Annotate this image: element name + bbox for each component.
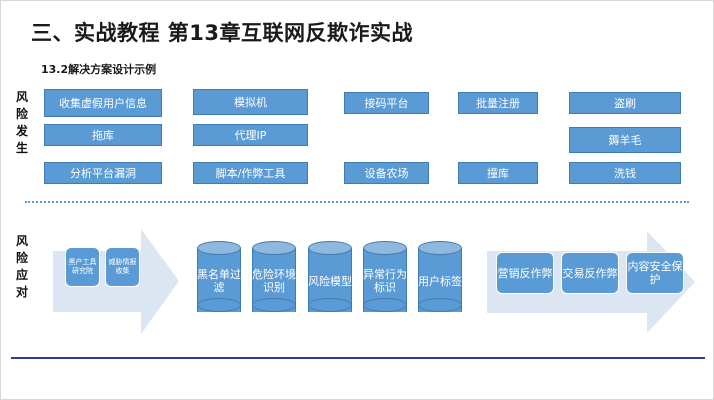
- label-char: 对: [11, 284, 33, 301]
- risk-box[interactable]: 批量注册: [458, 92, 538, 114]
- data-store-cylinder[interactable]: 黑名单过滤: [197, 241, 241, 319]
- risk-box[interactable]: 薅羊毛: [569, 127, 681, 153]
- cylinder-label: 用户标签: [418, 253, 462, 309]
- label-char: 风: [11, 233, 33, 250]
- risk-box[interactable]: 脚本/作弊工具: [193, 162, 308, 184]
- response-box[interactable]: 交易反作弊: [561, 252, 619, 294]
- cylinder-label: 危险环境识别: [252, 253, 296, 309]
- cylinder-label: 风险模型: [308, 253, 352, 309]
- label-char: 生: [11, 140, 33, 157]
- response-box[interactable]: 营销反作弊: [496, 252, 554, 294]
- response-box[interactable]: 威胁情报收集: [105, 247, 140, 287]
- risk-box[interactable]: 盗刷: [569, 92, 681, 114]
- risk-box[interactable]: 代理IP: [193, 124, 308, 146]
- response-box[interactable]: 黑产工具研究院: [65, 247, 100, 287]
- data-store-cylinder[interactable]: 风险模型: [308, 241, 352, 319]
- cylinder-label: 黑名单过滤: [197, 253, 241, 309]
- risk-box[interactable]: 设备农场: [344, 162, 429, 184]
- footer: 消金风控联盟 消费金融风控联盟版权所有，转载请注明出处。 消费金融风控联盟 28: [1, 359, 714, 400]
- response-box[interactable]: 内容安全保护: [626, 252, 684, 294]
- page-subtitle: 13.2解决方案设计示例: [41, 61, 156, 77]
- data-store-cylinder[interactable]: 用户标签: [418, 241, 462, 319]
- risk-box[interactable]: 模拟机: [193, 89, 308, 115]
- section-divider: [25, 201, 689, 203]
- risk-box[interactable]: 洗钱: [569, 162, 681, 184]
- page-title: 三、实战教程 第13章互联网反欺诈实战: [31, 17, 413, 47]
- label-char: 发: [11, 123, 33, 140]
- risk-box[interactable]: 分析平台漏洞: [44, 162, 162, 184]
- label-char: 应: [11, 267, 33, 284]
- risk-box[interactable]: 撞库: [458, 162, 538, 184]
- data-store-cylinder[interactable]: 异常行为标识: [363, 241, 407, 319]
- section-label-risk-response: 风 险 应 对: [11, 233, 33, 301]
- cylinder-label: 异常行为标识: [363, 253, 407, 309]
- label-char: 风: [11, 89, 33, 106]
- data-store-cylinder[interactable]: 危险环境识别: [252, 241, 296, 319]
- section-label-risk-occurrence: 风 险 发 生: [11, 89, 33, 157]
- slide-canvas: 三、实战教程 第13章互联网反欺诈实战 13.2解决方案设计示例 风 险 发 生…: [0, 0, 714, 400]
- risk-box[interactable]: 拖库: [44, 124, 162, 146]
- label-char: 险: [11, 250, 33, 267]
- label-char: 险: [11, 106, 33, 123]
- risk-box[interactable]: 收集虚假用户信息: [44, 89, 162, 117]
- risk-box[interactable]: 接码平台: [344, 92, 429, 114]
